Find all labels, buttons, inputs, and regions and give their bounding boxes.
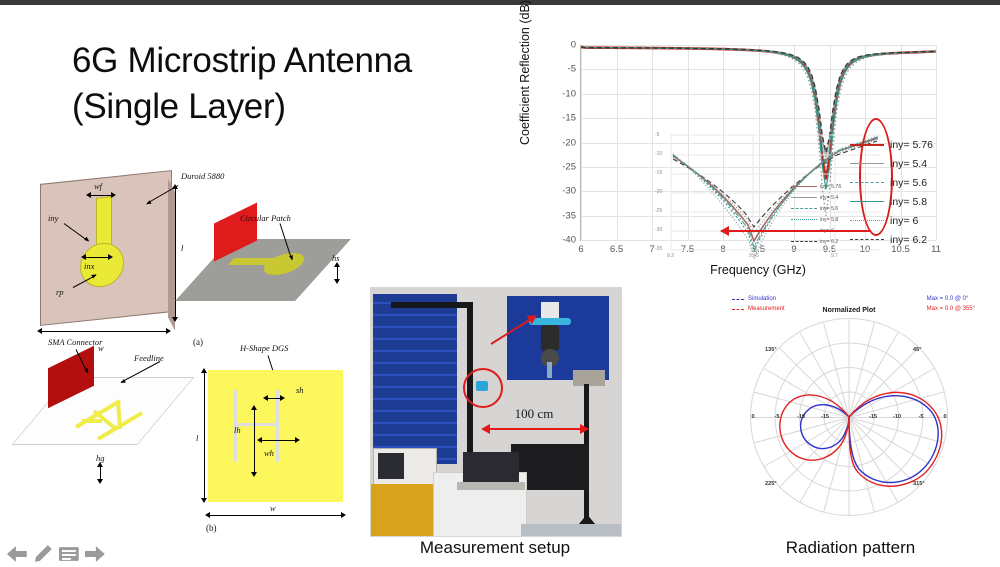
substrate-edge	[168, 178, 175, 330]
polar-radial-label: -5	[919, 414, 924, 420]
dim-sh	[268, 398, 280, 399]
polar-legend: SimulationMeasurement	[732, 294, 785, 314]
legend-swatch	[850, 201, 884, 202]
legend-swatch	[850, 163, 884, 164]
inset-y-tick: -5	[655, 132, 659, 138]
inset-plot	[653, 129, 883, 269]
polar-max-label: Max = 0.0 @ 355°	[927, 304, 975, 314]
left-arrow-icon[interactable]	[6, 544, 28, 564]
label-wf: wf	[94, 181, 102, 191]
legend-item: iny= 6.2	[850, 230, 980, 249]
reflection-coefficient-chart: Coefficient Reflection (dB) Frequency (G…	[520, 27, 990, 285]
dim-l-dgs	[204, 373, 205, 498]
distance-label: 100 cm	[515, 406, 554, 422]
inset-legend-label: iny= 5.6	[820, 206, 838, 212]
legend-label: iny= 5.76	[890, 139, 933, 151]
polar-radial-label: -10	[797, 414, 805, 420]
inset-legend-swatch	[791, 197, 817, 198]
legend-label: iny= 6.2	[890, 234, 927, 246]
chart-legend: iny= 5.76iny= 5.4iny= 5.6iny= 5.8iny= 6i…	[850, 135, 980, 249]
title-line-2: (Single Layer)	[72, 84, 542, 130]
floor-strip	[521, 524, 621, 536]
legend-swatch	[850, 182, 884, 183]
label-w-dgs: w	[270, 503, 276, 513]
polar-radial-label: -5	[775, 414, 780, 420]
inset-y-tick: -25	[655, 208, 662, 214]
inset-y-tick: -15	[655, 170, 662, 176]
chart-y-axis-label: Coefficient Reflection (dB)	[518, 0, 532, 145]
slide-canvas: 6G Microstrip Antenna (Single Layer) wf …	[0, 5, 1000, 564]
polar-legend-label: Measurement	[748, 306, 785, 312]
y-tick-label: -25	[562, 161, 576, 172]
antenna-under-test-inset	[507, 296, 609, 380]
inset-legend-label: iny= 5.8	[820, 217, 838, 223]
inset-legend-swatch	[791, 208, 817, 209]
page-title: 6G Microstrip Antenna (Single Layer)	[72, 38, 542, 130]
caption-panel-b: (b)	[206, 523, 217, 533]
laptop-screen	[463, 452, 519, 486]
y-tick-label: -5	[568, 64, 576, 75]
inset-legend-item: iny= 5.4	[791, 192, 841, 203]
notes-icon[interactable]	[58, 544, 80, 564]
legend-item: iny= 6	[850, 211, 980, 230]
polar-plot: 45°135°225°315° 0-5-10-15-15-10-50	[751, 319, 947, 515]
polar-legend-swatch	[732, 299, 744, 300]
y-tick-label: -20	[562, 137, 576, 148]
polar-radial-label: -15	[821, 414, 829, 420]
label-inx: inx	[84, 261, 94, 271]
legend-item: iny= 5.76	[850, 135, 980, 154]
inset-legend-label: iny= 5.76	[820, 184, 841, 190]
legend-swatch	[850, 144, 884, 146]
inset-legend-swatch	[791, 186, 817, 187]
polar-angle-label: 45°	[913, 347, 921, 353]
label-sma-connector: SMA Connector	[48, 337, 102, 347]
polar-legend-label: Simulation	[748, 296, 776, 302]
inset-y-tick: -20	[655, 189, 662, 195]
polar-legend-item: Measurement	[732, 304, 785, 314]
support-boom	[391, 302, 473, 308]
polar-radial-label: -15	[869, 414, 877, 420]
inset-x-tick: 9.45	[749, 253, 759, 259]
label-rp: rp	[56, 287, 64, 297]
inset-legend-label: iny= 5.4	[820, 195, 838, 201]
polar-radial-label: 0	[943, 414, 946, 420]
legend-label: iny= 5.6	[890, 177, 927, 189]
dgs-ground-plane	[208, 370, 343, 502]
label-wh: wh	[264, 448, 274, 458]
dim-wh	[262, 440, 295, 441]
caption-panel-a: (a)	[193, 337, 203, 347]
polar-angle-label: 225°	[765, 481, 777, 487]
dim-w-dgs	[210, 515, 341, 516]
polar-max-label: Max = 0.0 @ 0°	[927, 294, 975, 304]
dim-hs	[337, 267, 338, 279]
polar-angle-label: 315°	[913, 481, 925, 487]
inset-legend-swatch	[791, 241, 817, 242]
label-l-dgs: l	[196, 433, 198, 443]
inset-legend-swatch	[791, 219, 817, 220]
y-tick-label: -15	[562, 113, 576, 124]
inset-y-tick: -35	[655, 246, 662, 252]
label-circular-patch: Circular Patch	[240, 213, 291, 223]
legend-label: iny= 6	[890, 215, 918, 227]
h-dgs-slot-3d	[58, 383, 168, 453]
inset-legend-item: iny= 5.76	[791, 181, 841, 192]
legend-item: iny= 5.6	[850, 173, 980, 192]
dgs-right-arm	[276, 390, 279, 462]
pencil-icon[interactable]	[33, 544, 53, 564]
polar-angle-label: 135°	[765, 347, 777, 353]
measurement-setup-photo: 100 cm	[370, 287, 622, 537]
legend-label: iny= 5.8	[890, 196, 927, 208]
y-tick-label: 0	[571, 40, 576, 51]
label-duroid: Duroid 5880	[181, 171, 224, 181]
legend-item: iny= 5.4	[850, 154, 980, 173]
inset-legend-item: iny= 5.8	[791, 214, 841, 225]
polar-max-annotations: Max = 0.0 @ 0°Max = 0.0 @ 355°	[927, 294, 975, 314]
y-tick-label: -35	[562, 210, 576, 221]
caption-measurement-setup: Measurement setup	[370, 538, 620, 558]
polar-radial-label: -10	[893, 414, 901, 420]
dim-lh	[254, 410, 255, 472]
dim-inx	[86, 257, 108, 258]
inset-y-tick: -30	[655, 227, 662, 233]
dim-wf	[91, 195, 111, 196]
title-line-1: 6G Microstrip Antenna	[72, 41, 412, 80]
label-l: l	[181, 243, 183, 253]
inset-legend-label: iny= 6.2	[820, 239, 838, 245]
anechoic-foam-left	[373, 294, 457, 464]
y-tick-label: -10	[562, 88, 576, 99]
legend-label: iny= 5.4	[890, 158, 927, 170]
chart-inset-zoom: -5-10-15-20-25-30-35 9.29.459.7 iny= 5.7…	[653, 129, 883, 269]
dim-hg	[100, 467, 101, 479]
polar-legend-item: Simulation	[732, 294, 785, 304]
legend-swatch	[850, 220, 884, 221]
horn-antenna	[573, 370, 605, 386]
inset-legend-item: iny= 5.6	[791, 203, 841, 214]
inset-y-tick: -10	[655, 151, 662, 157]
legend-swatch	[850, 239, 884, 240]
inset-x-tick: 9.7	[831, 253, 838, 259]
annotation-arrow	[721, 230, 871, 232]
zoom-circle-annotation	[463, 368, 503, 408]
polar-plot-title: Normalized Plot	[823, 307, 876, 314]
laptop-keyboard	[457, 482, 525, 490]
right-arrow-icon[interactable]	[84, 544, 106, 564]
label-h-shape-dgs: H-Shape DGS	[240, 343, 288, 353]
x-tick-label: 6.5	[610, 244, 623, 255]
caption-radiation-pattern: Radiation pattern	[718, 538, 983, 558]
x-tick-label: 6	[578, 244, 583, 255]
inset-x-tick: 9.2	[667, 253, 674, 259]
polar-radial-label: 0	[751, 414, 754, 420]
dim-w	[42, 331, 166, 332]
yellow-cabinet	[371, 484, 433, 536]
polar-legend-swatch	[732, 309, 744, 310]
label-iny: iny	[48, 213, 58, 223]
inset-legend-item: iny= 6.2	[791, 236, 841, 247]
y-tick-label: -40	[562, 235, 576, 246]
inset-legend: iny= 5.76iny= 5.4iny= 5.6iny= 5.8iny= 6i…	[791, 181, 841, 247]
antenna-geometry-figure: wf iny inx rp Duroid 5880 l w Circular P…	[18, 165, 363, 540]
y-tick-label: -30	[562, 186, 576, 197]
legend-item: iny= 5.8	[850, 192, 980, 211]
distance-arrow	[483, 428, 587, 430]
label-sh: sh	[296, 385, 304, 395]
radiation-pattern-figure: SimulationMeasurement Max = 0.0 @ 0°Max …	[718, 293, 983, 535]
vna-screen	[378, 453, 404, 479]
slideshow-toolbar[interactable]	[6, 541, 106, 567]
label-lh: lh	[234, 425, 241, 435]
dgs-cross-arm	[234, 423, 279, 426]
